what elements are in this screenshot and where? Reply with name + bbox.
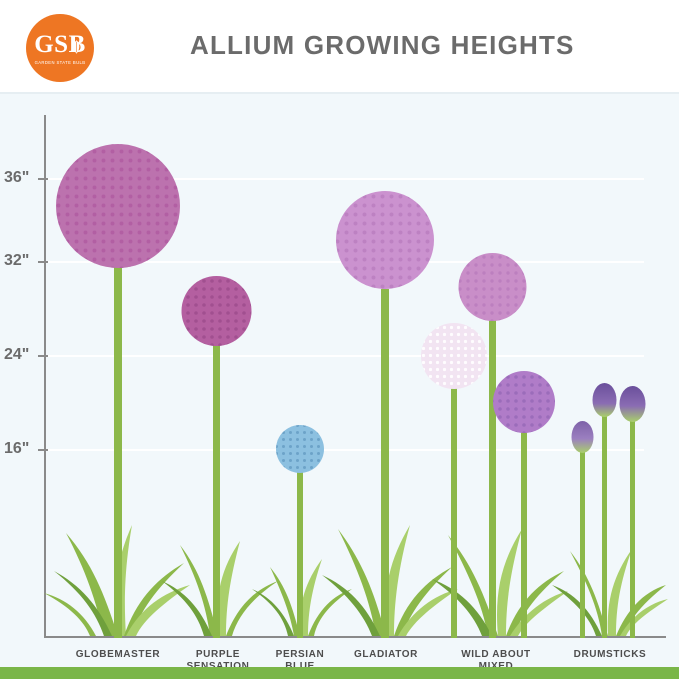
category-label-line: PURPLE xyxy=(166,649,270,661)
category-label-line: PERSIAN xyxy=(256,649,344,661)
chart-plot-area: 36" 32" 24" 16" xyxy=(0,93,679,667)
category-label-line: GLADIATOR xyxy=(334,649,438,661)
allium-plants xyxy=(0,93,679,667)
leaf-icon xyxy=(72,40,81,54)
page-title: ALLIUM GROWING HEIGHTS xyxy=(190,30,575,61)
footer-bar xyxy=(0,667,679,679)
logo-subtext: GARDEN STATE BULB xyxy=(35,60,86,65)
category-label-line: WILD ABOUT xyxy=(442,649,550,661)
category-label-line: GLOBEMASTER xyxy=(54,649,182,661)
gsb-logo: GSB GARDEN STATE BULB xyxy=(26,14,94,82)
category-label-gladiator: GLADIATOR xyxy=(334,649,438,661)
category-label-globemaster: GLOBEMASTER xyxy=(54,649,182,661)
infographic-page: GSB GARDEN STATE BULB ALLIUM GROWING HEI… xyxy=(0,0,679,679)
category-label-line: DRUMSTICKS xyxy=(552,649,668,661)
category-label-drumsticks: DRUMSTICKS xyxy=(552,649,668,661)
